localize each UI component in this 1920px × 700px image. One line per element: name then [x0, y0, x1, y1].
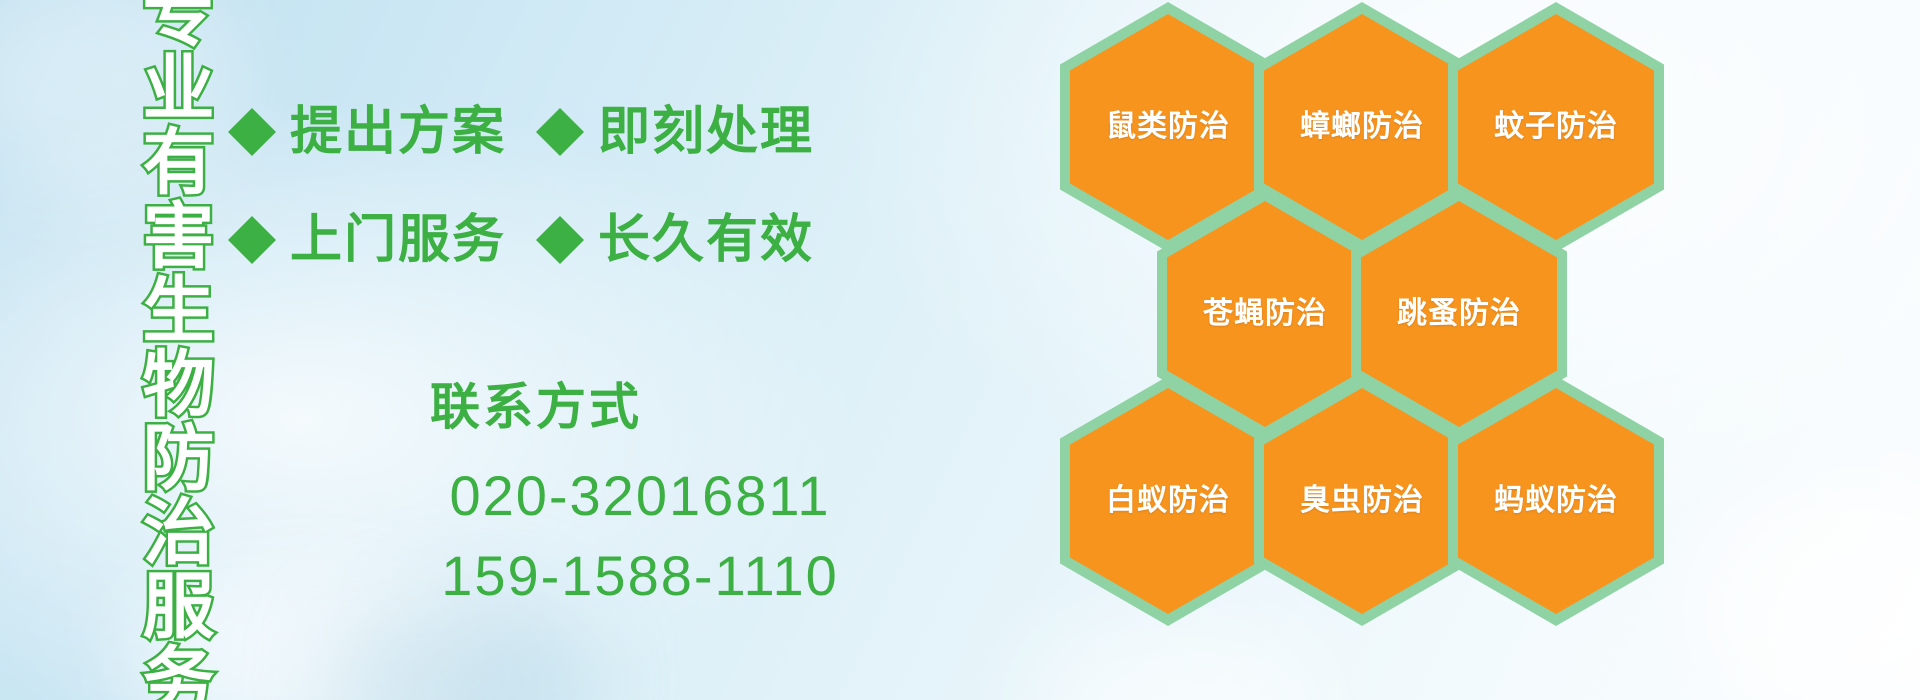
vertical-headline: 专业有害生物防治服务: [113, 8, 205, 684]
feature-row: 提出方案 即刻处理: [228, 78, 868, 186]
hex-label: 蚂蚁防治: [1494, 486, 1618, 516]
hex-label: 白蚁防治: [1106, 486, 1230, 516]
contact-block: 联系方式 020-32016811 159-1588-1110: [330, 380, 950, 615]
hex-inner: 蚂蚁防治: [1458, 388, 1654, 614]
hex-label: 蟑螂防治: [1300, 112, 1424, 142]
feature-row: 上门服务 长久有效: [228, 186, 868, 294]
feature-label: 长久有效: [598, 214, 814, 266]
service-hexagon-grid: 鼠类防治 蟑螂防治 蚊子防治 苍蝇防治 跳蚤防治 白蚁防: [1060, 0, 1800, 700]
feature-list: 提出方案 即刻处理 上门服务 长久有效: [228, 78, 868, 294]
diamond-icon: [228, 84, 276, 132]
feature-label: 提出方案: [290, 106, 506, 158]
feature-label: 即刻处理: [598, 106, 814, 158]
hex-label: 鼠类防治: [1106, 112, 1230, 142]
pest-control-banner: 专业有害生物防治服务 提出方案 即刻处理 上门服务 长久有效 联: [0, 0, 1920, 700]
diamond-icon: [536, 192, 584, 240]
feature-item-immediate: 即刻处理: [536, 106, 814, 158]
diamond-icon: [228, 192, 276, 240]
feature-item-onsite: 上门服务: [228, 214, 506, 266]
diamond-icon: [536, 84, 584, 132]
contact-heading: 联系方式: [430, 380, 950, 434]
hex-inner: 白蚁防治: [1070, 388, 1266, 614]
hex-label: 苍蝇防治: [1203, 299, 1327, 329]
feature-item-longlasting: 长久有效: [536, 214, 814, 266]
hex-label: 跳蚤防治: [1397, 299, 1521, 329]
phone-number-mobile[interactable]: 159-1588-1110: [330, 536, 950, 616]
feature-label: 上门服务: [290, 214, 506, 266]
hex-label: 臭虫防治: [1300, 486, 1424, 516]
hex-inner: 臭虫防治: [1264, 388, 1460, 614]
feature-item-proposal: 提出方案: [228, 106, 506, 158]
phone-number-landline[interactable]: 020-32016811: [330, 456, 950, 536]
hex-label: 蚊子防治: [1494, 112, 1618, 142]
